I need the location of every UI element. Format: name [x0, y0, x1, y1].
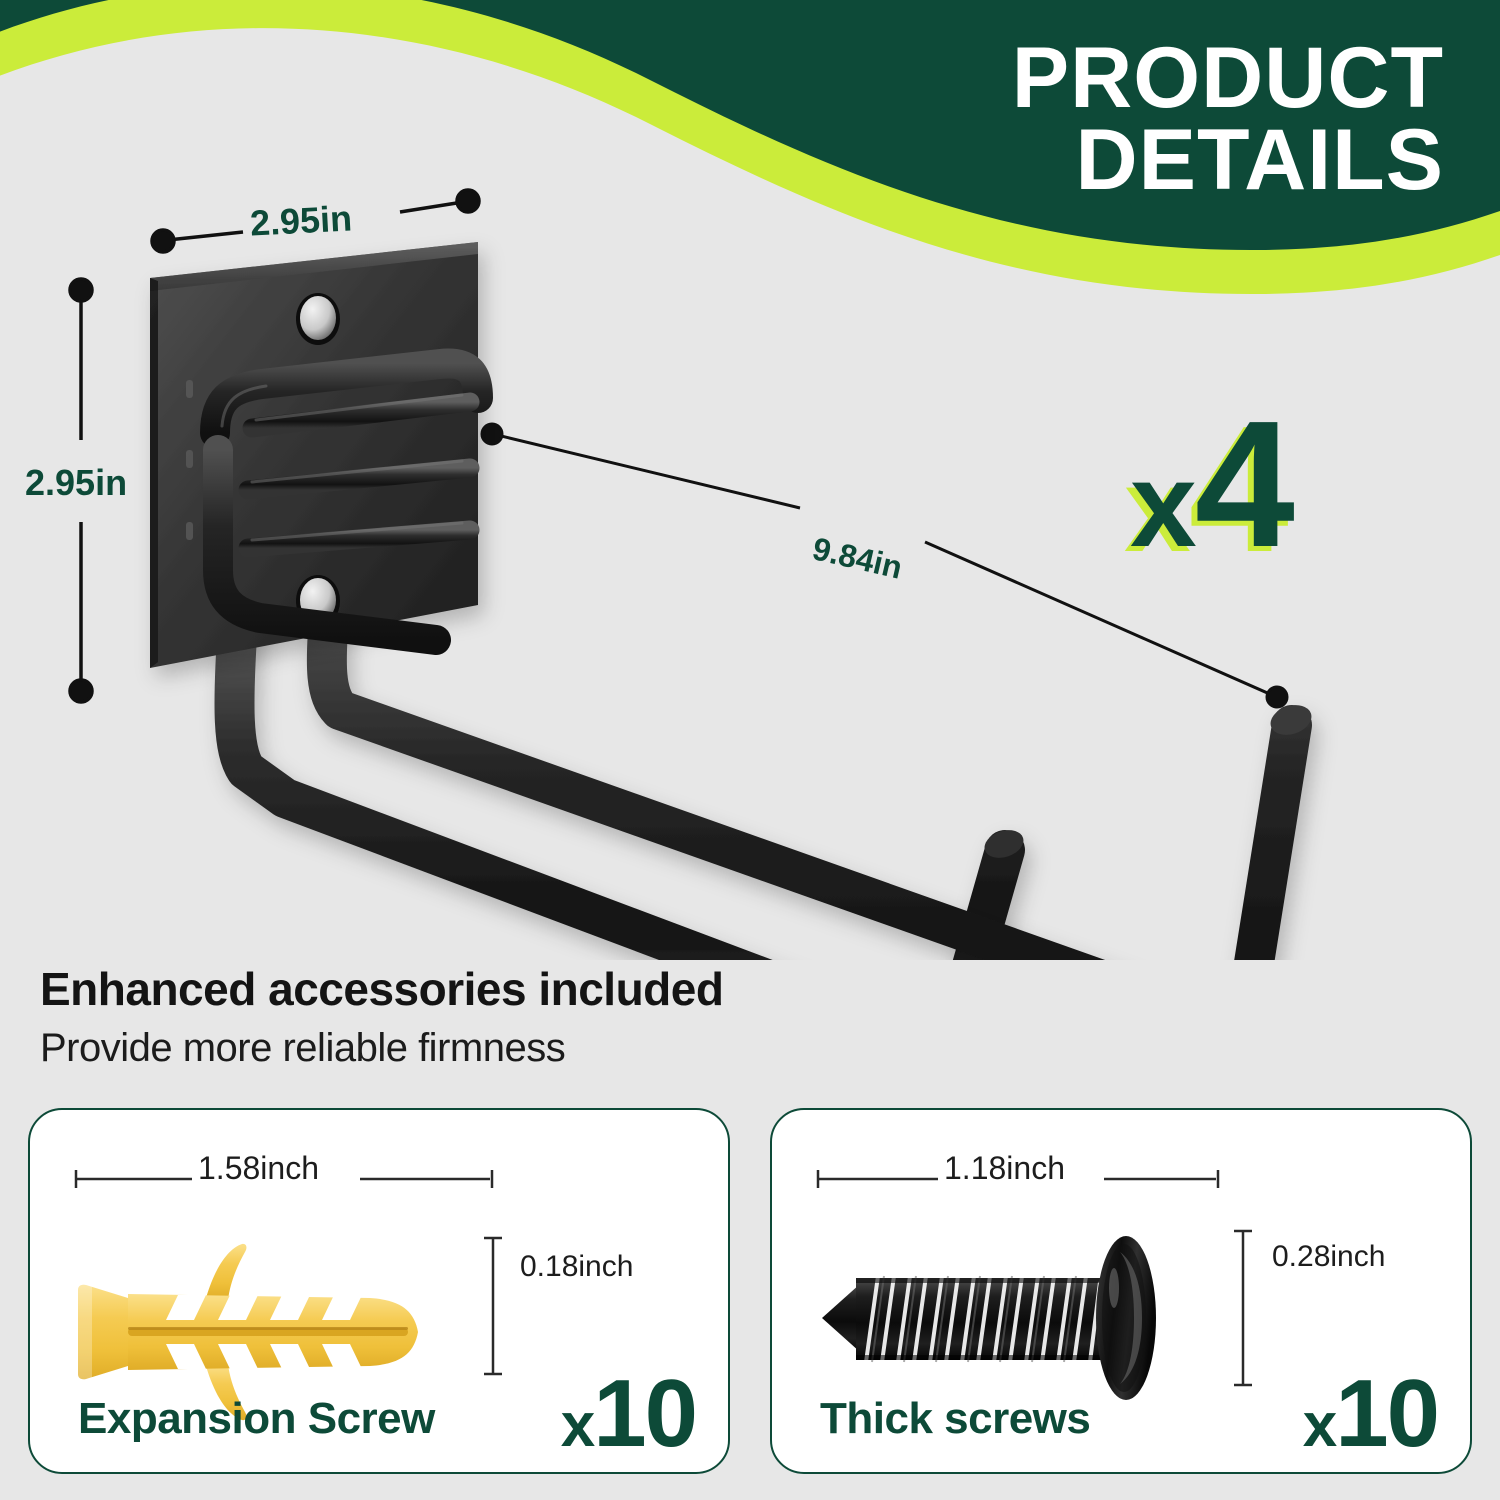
accessory-card-expansion-screw: 1.58inch 0.18inch — [28, 1108, 730, 1474]
accessory-card-thick-screws: 1.18inch 0.28inch — [770, 1108, 1472, 1474]
accessory-count-prefix-thick-screws: x — [1303, 1391, 1335, 1460]
dimension-label-plate-width: 2.95in — [249, 197, 353, 244]
mounting-plate — [150, 242, 478, 668]
accessory-count-number-expansion-screw: 10 — [593, 1360, 696, 1467]
accessories-subheading: Provide more reliable firmness — [40, 1026, 565, 1071]
product-details-infographic: PRODUCTDETAILS — [0, 0, 1500, 1500]
quantity-badge-hook: x4 — [1130, 395, 1293, 575]
accessory-count-prefix-expansion-screw: x — [561, 1391, 593, 1460]
accessory-count-thick-screws: x10 — [1303, 1366, 1438, 1462]
quantity-badge-prefix: x — [1130, 438, 1195, 572]
dimension-label-anchor-length: 1.58inch — [198, 1150, 319, 1187]
accessory-count-number-thick-screws: 10 — [1335, 1360, 1438, 1467]
accessory-card-title-thick-screws: Thick screws — [820, 1394, 1090, 1444]
accessory-count-expansion-screw: x10 — [561, 1366, 696, 1462]
dimension-label-anchor-thickness: 0.18inch — [520, 1250, 633, 1284]
plate-screw-hole-top — [296, 293, 340, 345]
dimension-label-screw-length: 1.18inch — [944, 1150, 1065, 1187]
thick-screw-illustration — [808, 1222, 1228, 1422]
dimension-line-screw-thickness — [1230, 1228, 1256, 1388]
quantity-badge-number: 4 — [1195, 384, 1293, 585]
dimension-label-plate-height: 2.95in — [25, 462, 127, 504]
dimension-label-screw-thickness: 0.28inch — [1272, 1240, 1385, 1274]
accessory-card-title-expansion-screw: Expansion Screw — [78, 1394, 435, 1444]
accessories-heading: Enhanced accessories included — [40, 962, 723, 1016]
hook-front-arm — [327, 605, 1292, 960]
